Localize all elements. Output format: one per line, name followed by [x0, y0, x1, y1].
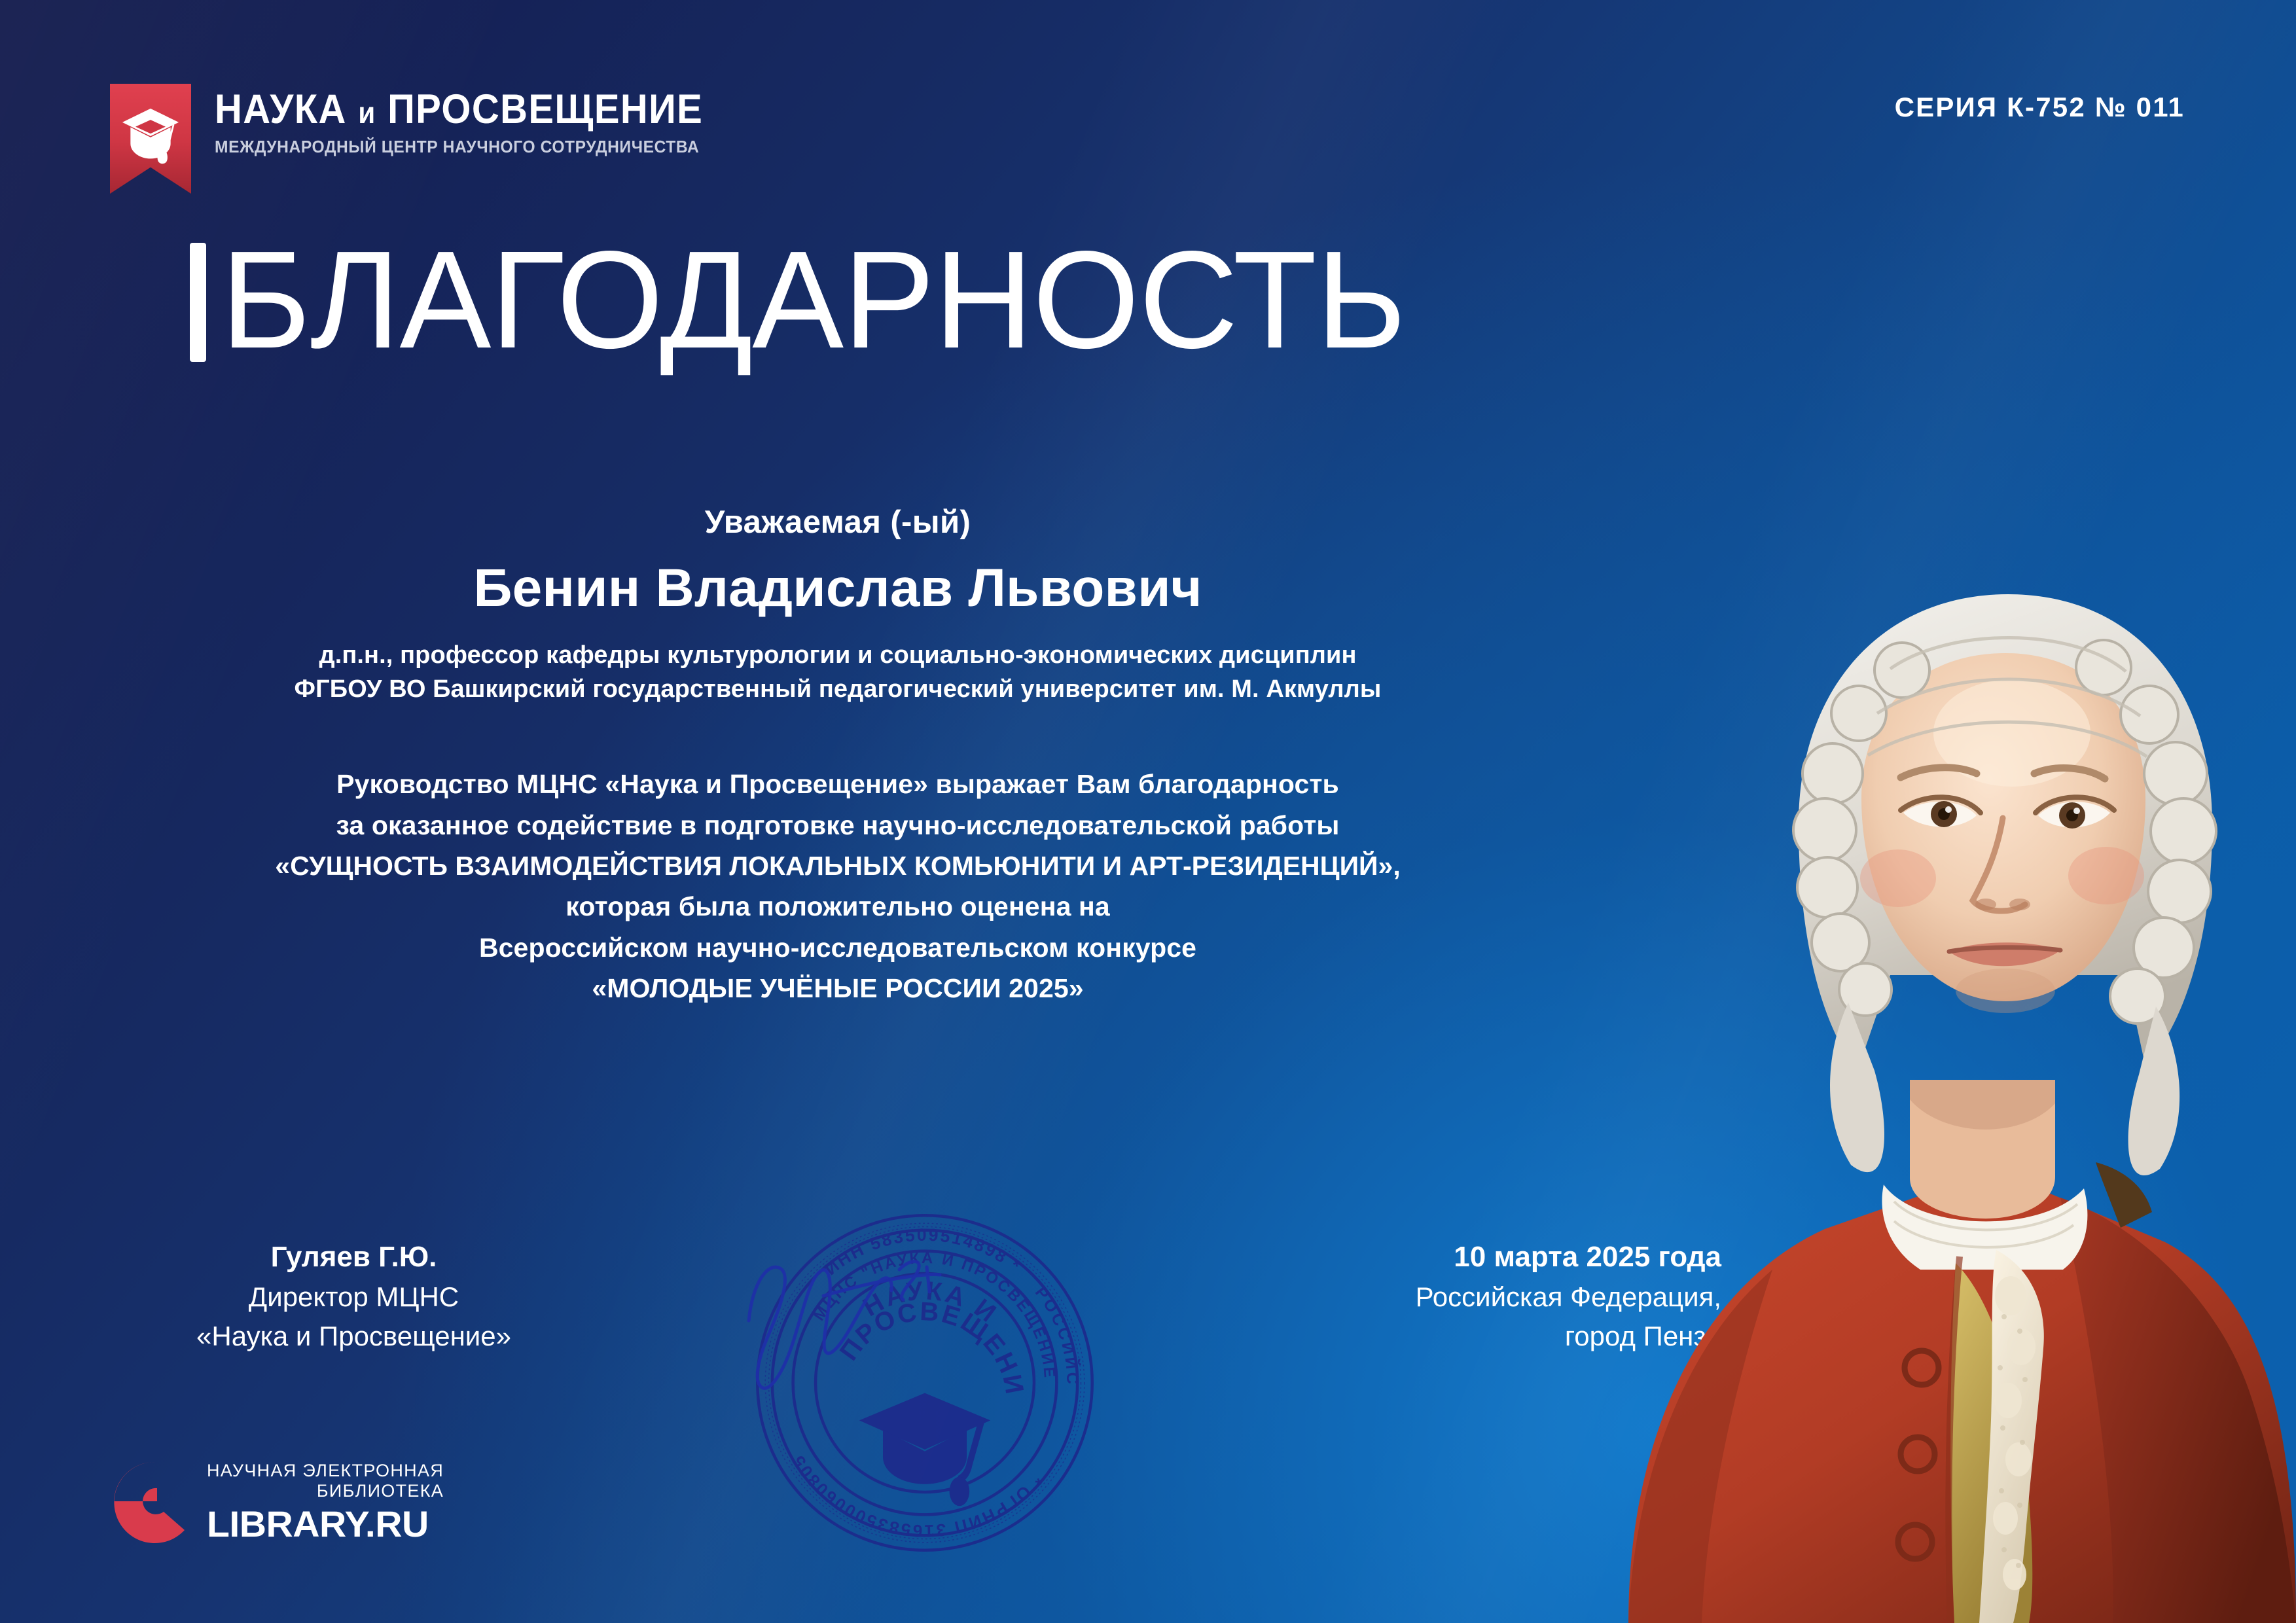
- title-text: БЛАГОДАРНОСТЬ: [221, 230, 1406, 369]
- recipient-name: Бенин Владислав Львович: [0, 558, 1676, 619]
- title-accent-bar: [190, 243, 206, 362]
- award-line-1: Руководство МЦНС «Наука и Просвещение» в…: [0, 764, 1676, 804]
- elibrary-e-mark: [113, 1461, 196, 1544]
- brand-text: НАУКА и ПРОСВЕЩЕНИЕ МЕЖДУНАРОДНЫЙ ЦЕНТР …: [215, 84, 745, 157]
- elibrary-line-1: НАУЧНАЯ ЭЛЕКТРОННАЯ: [207, 1461, 444, 1481]
- brand-title: НАУКА и ПРОСВЕЩЕНИЕ: [215, 89, 703, 130]
- issue-date: 10 марта 2025 года: [1001, 1237, 1721, 1277]
- affiliation-line-1: д.п.н., профессор кафедры культурологии …: [0, 639, 1676, 673]
- certificate-page: НАУКА и ПРОСВЕЩЕНИЕ МЕЖДУНАРОДНЫЙ ЦЕНТР …: [0, 0, 2296, 1623]
- seal-stamp-icon: ИНН 583509514898 * РОССИЙСКАЯ ФЕДЕРАЦИЯ …: [751, 1209, 1098, 1556]
- award-work-title: «СУЩНОСТЬ ВЗАИМОДЕЙСТВИЯ ЛОКАЛЬНЫХ КОМЬЮ…: [0, 846, 1676, 886]
- elibrary-line-2: БИБЛИОТЕКА: [207, 1481, 444, 1501]
- recipient-affiliation: д.п.н., профессор кафедры культурологии …: [0, 639, 1676, 706]
- award-line-2: за оказанное содействие в подготовке нау…: [0, 805, 1676, 846]
- graduation-cap-icon: [119, 106, 182, 165]
- serial-number: СЕРИЯ К-752 № 011: [1895, 92, 2185, 123]
- brand-title-main: НАУКА: [215, 86, 347, 132]
- brand-logo: НАУКА и ПРОСВЕЩЕНИЕ МЕЖДУНАРОДНЫЙ ЦЕНТР …: [110, 84, 745, 194]
- signatory-organization: «Наука и Просвещение»: [196, 1317, 511, 1356]
- issue-block: 10 марта 2025 года Российская Федерация,…: [1001, 1237, 1721, 1356]
- elibrary-logo: НАУЧНАЯ ЭЛЕКТРОННАЯ БИБЛИОТЕКА LIBRARY.R…: [113, 1461, 444, 1545]
- signatory-block: Гуляев Г.Ю. Директор МЦНС «Наука и Просв…: [196, 1237, 511, 1356]
- award-contest-name: «МОЛОДЫЕ УЧЁНЫЕ РОССИИ 2025»: [0, 968, 1676, 1008]
- brand-ribbon-mark: [110, 84, 191, 194]
- elibrary-e-icon: [113, 1461, 196, 1544]
- elibrary-wordmark: LIBRARY.RU: [207, 1506, 448, 1543]
- page-title: БЛАГОДАРНОСТЬ: [190, 230, 1418, 369]
- certificate-body: Уважаемая (-ый) Бенин Владислав Львович …: [0, 504, 1676, 1008]
- award-statement: Руководство МЦНС «Наука и Просвещение» в…: [0, 764, 1676, 1008]
- brand-subtitle: МЕЖДУНАРОДНЫЙ ЦЕНТР НАУЧНОГО СОТРУДНИЧЕС…: [215, 138, 727, 157]
- signatory-role: Директор МЦНС: [196, 1277, 511, 1317]
- salutation: Уважаемая (-ый): [0, 504, 1676, 541]
- award-line-4: которая была положительно оценена на: [0, 886, 1676, 927]
- elibrary-text: НАУЧНАЯ ЭЛЕКТРОННАЯ БИБЛИОТЕКА LIBRARY.R…: [207, 1461, 444, 1545]
- affiliation-line-2: ФГБОУ ВО Башкирский государственный педа…: [0, 673, 1676, 707]
- issue-country: Российская Федерация,: [1001, 1277, 1721, 1317]
- issue-city: город Пенза: [1001, 1317, 1721, 1356]
- seal-graduation-cap-icon: [859, 1393, 990, 1507]
- award-line-5: Всероссийском научно-исследовательском к…: [0, 927, 1676, 968]
- brand-title-second: ПРОСВЕЩЕНИЕ: [387, 86, 703, 132]
- signatory-name: Гуляев Г.Ю.: [196, 1237, 511, 1277]
- official-seal: ИНН 583509514898 * РОССИЙСКАЯ ФЕДЕРАЦИЯ …: [751, 1209, 1098, 1556]
- brand-title-conjunction: и: [358, 96, 376, 130]
